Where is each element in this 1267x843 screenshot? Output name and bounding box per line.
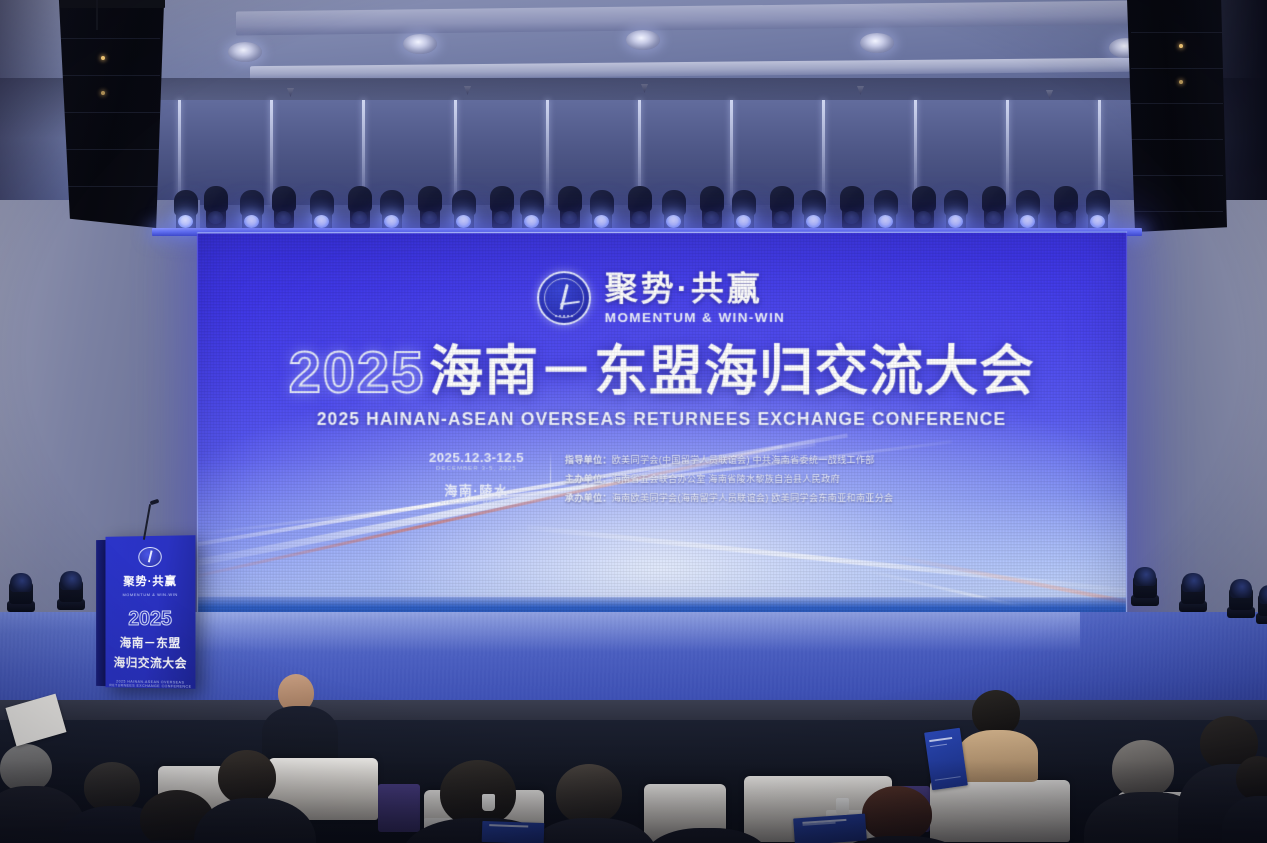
attendee-head xyxy=(672,778,734,834)
podium-subtitle-en: 2025 HAINAN-ASEAN OVERSEAS RETURNEES EXC… xyxy=(105,679,195,689)
attendee-head xyxy=(440,760,516,826)
podium-year: 2025 xyxy=(128,609,172,629)
floor-moving-light xyxy=(1255,584,1267,624)
audience-chair xyxy=(930,780,1070,842)
conference-stage-scene: 聚势·共赢 MOMENTUM & WIN-WIN 2025 海南－东盟海归交流大… xyxy=(0,0,1267,843)
moving-head-light xyxy=(310,190,334,232)
attendee-head xyxy=(556,764,622,824)
moving-head-light xyxy=(380,190,404,232)
moving-head-light xyxy=(912,186,936,228)
podium-side-panel xyxy=(96,540,106,686)
attendee-head xyxy=(862,786,932,842)
moving-head-light xyxy=(272,186,296,228)
program-booklet xyxy=(482,821,545,843)
attendee-head xyxy=(218,750,276,804)
moving-head-light xyxy=(520,190,544,232)
floor-moving-light xyxy=(1178,572,1208,612)
speaker-status-led xyxy=(101,91,105,95)
moving-head-light xyxy=(452,190,476,232)
floor-moving-light xyxy=(1226,578,1256,618)
attendee-head xyxy=(0,744,52,792)
moving-head-light xyxy=(840,186,864,228)
floor-moving-light xyxy=(56,570,86,610)
moving-head-light xyxy=(1086,190,1110,232)
led-video-wall: 聚势·共赢 MOMENTUM & WIN-WIN 2025 海南－东盟海归交流大… xyxy=(197,232,1127,625)
speaker-status-led xyxy=(1179,44,1183,48)
program-booklet xyxy=(793,814,867,843)
moving-head-light xyxy=(558,186,582,228)
floor-moving-light xyxy=(1130,566,1160,606)
moving-head-light xyxy=(1016,190,1040,232)
floor-moving-light xyxy=(6,572,36,612)
water-cup xyxy=(836,798,849,815)
ceiling-soffit-lower xyxy=(250,58,1130,80)
speaker-rigging-frame-left xyxy=(60,0,165,8)
moving-head-light xyxy=(982,186,1006,228)
speaker-status-led xyxy=(1179,80,1183,84)
attendee-head xyxy=(84,762,140,812)
led-pixel-grid xyxy=(198,233,1126,624)
ceiling-downlight xyxy=(860,33,894,53)
moving-head-light xyxy=(204,186,228,228)
moving-head-light xyxy=(628,186,652,228)
moving-head-light xyxy=(490,186,514,228)
moving-head-light xyxy=(348,186,372,228)
moving-head-light xyxy=(174,190,198,232)
ceiling-soffit-upper xyxy=(236,1,1136,36)
podium-slogan-cn: 聚势·共赢 xyxy=(123,573,177,589)
moving-head-light xyxy=(802,190,826,232)
moving-head-light xyxy=(700,186,724,228)
moving-head-light xyxy=(874,190,898,232)
attendee-shoulders xyxy=(958,730,1038,782)
podium-quill-seal-emblem-icon xyxy=(138,547,161,567)
audience-chair-accent xyxy=(378,784,420,832)
line-array-speaker-left xyxy=(52,0,164,228)
attendee-head xyxy=(1236,756,1267,800)
moving-head-light xyxy=(732,190,756,232)
moving-head-light xyxy=(770,186,794,228)
podium-title-line2: 海归交流大会 xyxy=(114,654,187,672)
moving-head-light xyxy=(240,190,264,232)
moving-head-light xyxy=(662,190,686,232)
moving-head-light xyxy=(944,190,968,232)
attendee-head xyxy=(1112,740,1174,798)
podium-slogan-en: MOMENTUM & WIN-WIN xyxy=(123,592,178,597)
attendee-shoulders xyxy=(262,706,338,766)
lighting-truss-row xyxy=(152,186,1142,232)
speaker-podium: 聚势·共赢 MOMENTUM & WIN-WIN 2025 海南－东盟 海归交流… xyxy=(105,535,195,689)
podium-front-graphic: 聚势·共赢 MOMENTUM & WIN-WIN 2025 海南－东盟 海归交流… xyxy=(105,535,195,689)
ceiling-downlight xyxy=(228,42,262,62)
speaker-status-led xyxy=(101,56,105,60)
speaker-rigging-wire-left xyxy=(96,0,98,30)
ceiling-downlight xyxy=(403,34,437,54)
moving-head-light xyxy=(1054,186,1078,228)
podium-title-line1: 海南－东盟 xyxy=(120,634,181,651)
ceiling-downlight xyxy=(626,30,660,50)
line-array-speaker-right xyxy=(1127,0,1227,232)
water-cup xyxy=(482,794,495,811)
moving-head-light xyxy=(418,186,442,228)
moving-head-light xyxy=(590,190,614,232)
